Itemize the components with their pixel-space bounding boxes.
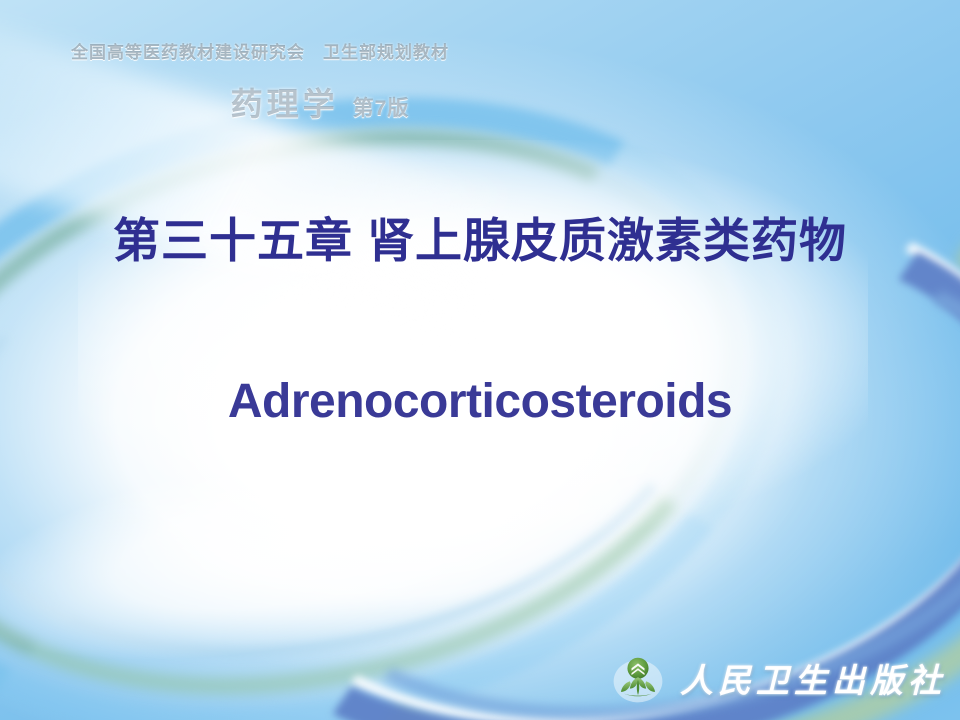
cover-series-line: 全国高等医药教材建设研究会 卫生部规划教材 <box>0 38 520 63</box>
title-slide: 全国高等医药教材建设研究会 卫生部规划教材 药理学 第7版 第三十五章 肾上腺皮… <box>0 0 960 720</box>
publisher-lockup: 人民卫生出版社 <box>612 652 946 704</box>
cover-header: 全国高等医药教材建设研究会 卫生部规划教材 药理学 第7版 <box>0 38 520 125</box>
chapter-title-english: Adrenocorticosteroids <box>0 374 960 429</box>
cover-edition-label: 第7版 <box>353 92 410 122</box>
cover-title-row: 药理学 第7版 <box>0 79 520 125</box>
top-left-light-streak <box>0 0 508 337</box>
center-white-glow <box>78 140 868 540</box>
ribbon-outer-blue-arc <box>0 8 847 720</box>
publisher-name: 人民卫生出版社 <box>680 654 946 702</box>
chapter-title-chinese: 第三十五章 肾上腺皮质激素类药物 <box>0 202 960 271</box>
cover-book-title: 药理学 <box>231 79 339 125</box>
pmph-leaf-emblem-icon <box>612 652 664 704</box>
